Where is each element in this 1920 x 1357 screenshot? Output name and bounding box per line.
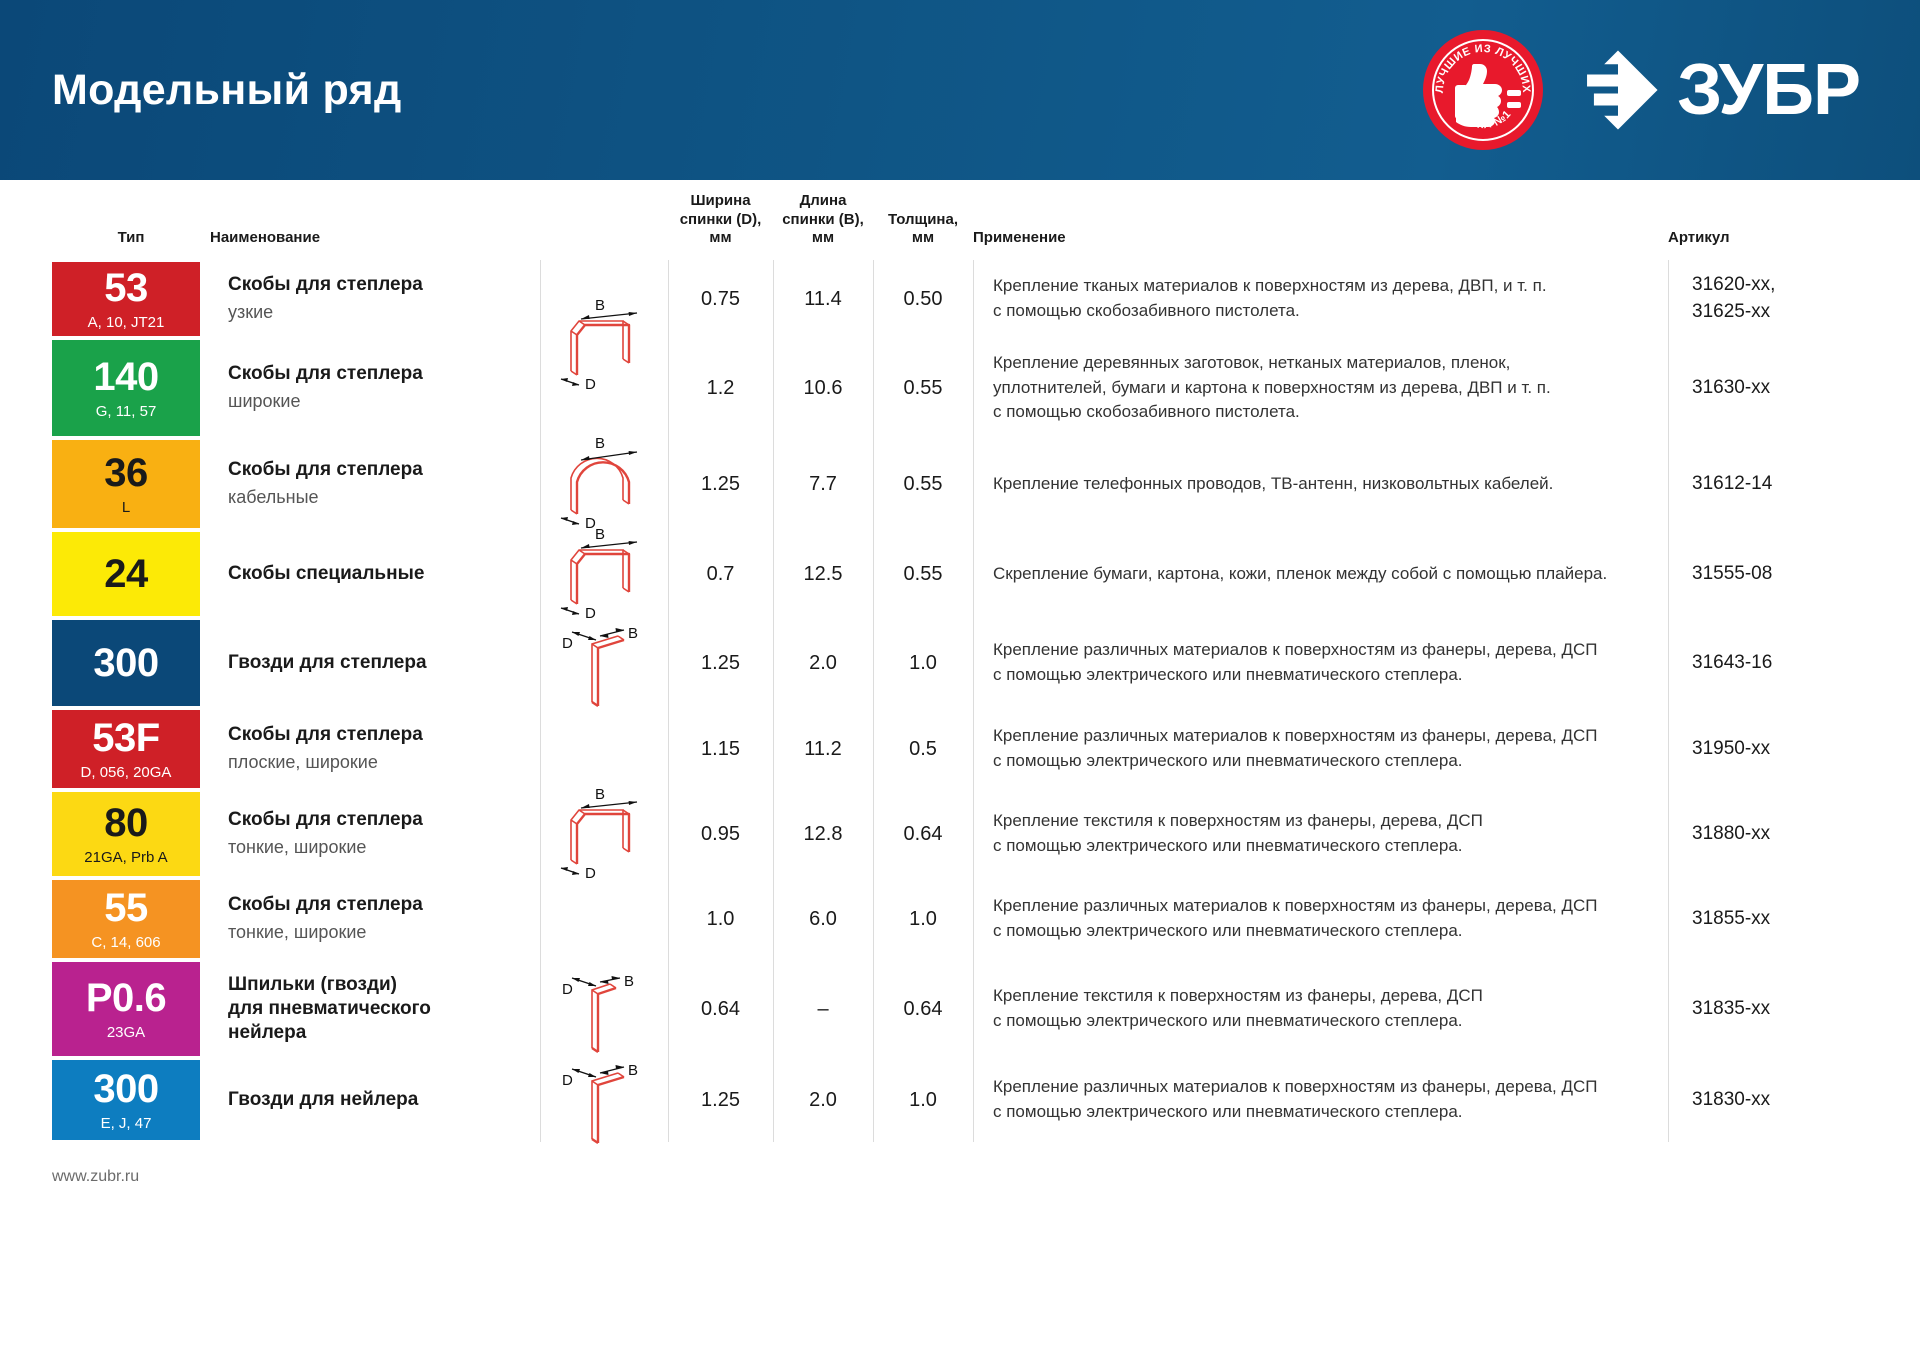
row-length-value: 10.6 xyxy=(773,338,873,438)
type-badge-number: 55 xyxy=(104,888,148,928)
type-badge-subtitle: A, 10, JT21 xyxy=(88,315,165,330)
type-badge-number: 300 xyxy=(93,643,158,683)
row-type-cell: 53FD, 056, 20GA xyxy=(52,708,210,790)
table-row[interactable]: 55C, 14, 606Скобы для степлератонкие, ши… xyxy=(52,878,1868,960)
row-application-cell: Крепление телефонных проводов, ТВ-антенн… xyxy=(973,438,1668,530)
col-header-type: Тип xyxy=(52,229,210,248)
row-length-value: 12.5 xyxy=(773,530,873,618)
row-thickness-value: 0.55 xyxy=(873,438,973,530)
type-badge-number: P0.6 xyxy=(86,978,166,1018)
row-application-line: с помощью электрического или пневматичес… xyxy=(993,1009,1648,1034)
row-width-value: 0.64 xyxy=(668,960,773,1058)
row-application-line: Крепление текстиля к поверхностям из фан… xyxy=(993,809,1648,834)
type-badge[interactable]: 24 xyxy=(52,532,200,616)
row-length-value: 2.0 xyxy=(773,618,873,708)
row-name-main: Скобы для степлера xyxy=(228,723,522,747)
row-application-cell: Крепление тканых материалов к поверхност… xyxy=(973,260,1668,338)
row-article-line: 31643-16 xyxy=(1692,650,1868,677)
row-article-cell: 31855-хх xyxy=(1668,878,1868,960)
row-diagram-cell: BD xyxy=(540,790,668,878)
row-name-cell: Шпильки (гвозди)для пневматическогонейле… xyxy=(210,960,540,1058)
row-thickness-value: 1.0 xyxy=(873,878,973,960)
type-badge[interactable]: P0.623GA xyxy=(52,962,200,1056)
row-article-line: 31855-хх xyxy=(1692,906,1868,933)
row-application-cell: Крепление различных материалов к поверхн… xyxy=(973,878,1668,960)
row-type-cell: 140G, 11, 57 xyxy=(52,338,210,438)
row-thickness-value: 0.64 xyxy=(873,960,973,1058)
row-type-cell: 300 xyxy=(52,618,210,708)
row-application-cell: Скрепление бумаги, картона, кожи, пленок… xyxy=(973,530,1668,618)
col-header-width-line2: спинки (D), мм xyxy=(668,211,773,249)
row-application-line: Крепление телефонных проводов, ТВ-антенн… xyxy=(993,472,1648,497)
row-name-cell: Скобы для степлераузкие xyxy=(210,260,540,338)
row-name-line: для пневматического xyxy=(228,997,522,1021)
row-name-cell: Скобы для степлераплоские, широкие xyxy=(210,708,540,790)
col-header-article: Артикул xyxy=(1668,229,1868,248)
type-badge[interactable]: 53A, 10, JT21 xyxy=(52,262,200,336)
col-header-thickness-line1: Толщина, xyxy=(873,211,973,230)
best-of-best-seal-icon: ЛУЧШИЕ ИЗ ЛУЧШИХ МАРКА №1 xyxy=(1423,30,1543,150)
row-name-main: Скобы для степлера xyxy=(228,808,522,832)
row-application-line: Крепление тканых материалов к поверхност… xyxy=(993,274,1648,299)
row-diagram-cell: DB xyxy=(540,960,668,1058)
row-diagram-cell: DB xyxy=(540,1058,668,1142)
type-badge-number: 53 xyxy=(104,268,148,308)
row-thickness-value: 0.50 xyxy=(873,260,973,338)
row-application-cell: Крепление деревянных заготовок, нетканых… xyxy=(973,338,1668,438)
row-width-value: 1.0 xyxy=(668,878,773,960)
row-application-cell: Крепление различных материалов к поверхн… xyxy=(973,708,1668,790)
model-range-table: Тип Наименование Ширина спинки (D), мм Д… xyxy=(0,180,1920,1142)
table-row[interactable]: 53FD, 056, 20GAСкобы для степлераплоские… xyxy=(52,708,1868,790)
row-name-sub: узкие xyxy=(228,301,522,324)
row-type-cell: 8021GA, Prb A xyxy=(52,790,210,878)
row-length-value: 2.0 xyxy=(773,1058,873,1142)
row-application-line: Крепление различных материалов к поверхн… xyxy=(993,1075,1648,1100)
type-badge-subtitle: E, J, 47 xyxy=(101,1116,152,1131)
row-type-cell: P0.623GA xyxy=(52,960,210,1058)
type-badge[interactable]: 140G, 11, 57 xyxy=(52,340,200,436)
row-width-value: 1.25 xyxy=(668,618,773,708)
svg-text:B: B xyxy=(628,1062,638,1079)
row-article-line: 31630-хх xyxy=(1692,375,1868,402)
svg-text:D: D xyxy=(562,1072,573,1089)
col-header-width: Ширина спинки (D), мм xyxy=(668,192,773,248)
row-name-cell: Гвозди для нейлера xyxy=(210,1058,540,1142)
row-name-main: Скобы для степлера xyxy=(228,458,522,482)
col-header-length: Длина спинки (B), мм xyxy=(773,192,873,248)
row-diagram-cell: DB xyxy=(540,618,668,708)
row-application-line: с помощью скобозабивного пистолета. xyxy=(993,299,1648,324)
row-width-value: 1.25 xyxy=(668,1058,773,1142)
row-name-cell: Скобы для степлератонкие, широкие xyxy=(210,878,540,960)
row-width-value: 1.2 xyxy=(668,338,773,438)
type-badge[interactable]: 53FD, 056, 20GA xyxy=(52,710,200,788)
row-application-line: Крепление различных материалов к поверхн… xyxy=(993,724,1648,749)
row-application-line: Крепление текстиля к поверхностям из фан… xyxy=(993,984,1648,1009)
row-width-value: 1.25 xyxy=(668,438,773,530)
row-width-value: 0.95 xyxy=(668,790,773,878)
row-article-line: 31625-хх xyxy=(1692,299,1868,326)
row-name-main: Гвозди для степлера xyxy=(228,651,522,675)
row-article-cell: 31612-14 xyxy=(1668,438,1868,530)
row-application-line: с помощью электрического или пневматичес… xyxy=(993,1100,1648,1125)
col-header-thickness: Толщина, мм xyxy=(873,211,973,249)
row-thickness-value: 1.0 xyxy=(873,1058,973,1142)
type-badge[interactable]: 36L xyxy=(52,440,200,528)
row-application-cell: Крепление различных материалов к поверхн… xyxy=(973,1058,1668,1142)
row-name-sub: плоские, широкие xyxy=(228,751,522,774)
table-row[interactable]: 140G, 11, 57Скобы для степлераширокие1.2… xyxy=(52,338,1868,438)
row-article-cell: 31620-хх,31625-хх xyxy=(1668,260,1868,338)
row-article-cell: 31630-хх xyxy=(1668,338,1868,438)
row-width-value: 0.7 xyxy=(668,530,773,618)
row-application-line: Крепление деревянных заготовок, нетканых… xyxy=(993,351,1648,376)
row-name-main: Скобы специальные xyxy=(228,562,522,586)
svg-text:D: D xyxy=(562,635,573,652)
row-application-line: с помощью электрического или пневматичес… xyxy=(993,663,1648,688)
row-width-value: 0.75 xyxy=(668,260,773,338)
table-row[interactable]: 53A, 10, JT21Скобы для степлераузкиеBD0.… xyxy=(52,260,1868,338)
staple-square-icon: BD xyxy=(551,786,657,882)
type-badge-number: 80 xyxy=(104,803,148,843)
row-name-sub: тонкие, широкие xyxy=(228,836,522,859)
row-type-cell: 55C, 14, 606 xyxy=(52,878,210,960)
svg-text:B: B xyxy=(628,625,638,642)
svg-text:B: B xyxy=(595,526,605,543)
row-application-line: Скрепление бумаги, картона, кожи, пленок… xyxy=(993,562,1648,587)
row-name-main: Скобы для степлера xyxy=(228,362,522,386)
row-name-main: Скобы для степлера xyxy=(228,273,522,297)
type-badge-subtitle: 21GA, Prb A xyxy=(84,850,167,865)
row-article-cell: 31555-08 xyxy=(1668,530,1868,618)
row-article-line: 31830-хх xyxy=(1692,1087,1868,1114)
row-length-value: – xyxy=(773,960,873,1058)
type-badge-subtitle: 23GA xyxy=(107,1025,145,1040)
page-header: Модельный ряд ЛУЧШИЕ ИЗ ЛУЧШИХ МАРКА №1 xyxy=(0,0,1920,180)
row-application-cell: Крепление текстиля к поверхностям из фан… xyxy=(973,790,1668,878)
footer: www.zubr.ru xyxy=(0,1142,1920,1186)
table-row[interactable]: 300Гвозди для степлераDB1.252.01.0Крепле… xyxy=(52,618,1868,708)
row-length-value: 7.7 xyxy=(773,438,873,530)
row-thickness-value: 0.64 xyxy=(873,790,973,878)
col-header-name: Наименование xyxy=(210,229,540,248)
table-row[interactable]: P0.623GAШпильки (гвозди)для пневматическ… xyxy=(52,960,1868,1058)
type-badge-subtitle: G, 11, 57 xyxy=(96,404,157,419)
type-badge[interactable]: 300 xyxy=(52,620,200,706)
row-name-sub: широкие xyxy=(228,390,522,413)
row-type-cell: 24 xyxy=(52,530,210,618)
staple-square-icon: BD xyxy=(551,526,657,622)
row-name-cell: Скобы для степлераширокие xyxy=(210,338,540,438)
type-badge-number: 36 xyxy=(104,453,148,493)
row-article-cell: 31950-хх xyxy=(1668,708,1868,790)
svg-text:B: B xyxy=(595,786,605,803)
row-diagram-cell: BD xyxy=(540,260,668,338)
row-application-line: с помощью электрического или пневматичес… xyxy=(993,749,1648,774)
row-article-line: 31835-хх xyxy=(1692,996,1868,1023)
table-row[interactable]: 36LСкобы для степлеракабельныеBD1.257.70… xyxy=(52,438,1868,530)
row-name-sub: кабельные xyxy=(228,486,522,509)
zubr-arrow-icon xyxy=(1575,47,1661,133)
row-name-sub: тонкие, широкие xyxy=(228,921,522,944)
row-article-cell: 31643-16 xyxy=(1668,618,1868,708)
row-article-cell: 31880-хх xyxy=(1668,790,1868,878)
svg-text:B: B xyxy=(624,973,634,990)
type-badge-subtitle: C, 14, 606 xyxy=(91,935,160,950)
type-badge[interactable]: 300E, J, 47 xyxy=(52,1060,200,1140)
svg-text:B: B xyxy=(595,297,605,314)
row-application-line: с помощью электрического или пневматичес… xyxy=(993,919,1648,944)
row-diagram-cell xyxy=(540,708,668,790)
row-diagram-cell: BD xyxy=(540,530,668,618)
row-application-line: уплотнителей, бумаги и картона к поверхн… xyxy=(993,376,1648,401)
row-width-value: 1.15 xyxy=(668,708,773,790)
table-row[interactable]: 8021GA, Prb AСкобы для степлератонкие, ш… xyxy=(52,790,1868,878)
row-article-line: 31950-хх xyxy=(1692,736,1868,763)
table-header-row: Тип Наименование Ширина спинки (D), мм Д… xyxy=(52,180,1868,260)
type-badge-subtitle: D, 056, 20GA xyxy=(81,765,172,780)
row-diagram-cell: BD xyxy=(540,438,668,530)
row-thickness-value: 0.5 xyxy=(873,708,973,790)
row-application-line: Крепление различных материалов к поверхн… xyxy=(993,894,1648,919)
type-badge-subtitle: L xyxy=(122,500,130,515)
row-application-cell: Крепление текстиля к поверхностям из фан… xyxy=(973,960,1668,1058)
type-badge[interactable]: 55C, 14, 606 xyxy=(52,880,200,958)
row-application-line: с помощью электрического или пневматичес… xyxy=(993,834,1648,859)
row-name-cell: Скобы для степлератонкие, широкие xyxy=(210,790,540,878)
table-row[interactable]: 300E, J, 47Гвозди для нейлераDB1.252.01.… xyxy=(52,1058,1868,1142)
nail-l-icon: DB xyxy=(554,1047,654,1153)
page-title: Модельный ряд xyxy=(52,66,402,115)
nail-l-icon: DB xyxy=(554,610,654,716)
col-header-thickness-line2: мм xyxy=(873,229,973,248)
type-badge-number: 300 xyxy=(93,1069,158,1109)
row-length-value: 11.2 xyxy=(773,708,873,790)
row-name-line: нейлера xyxy=(228,1021,522,1045)
row-application-line: Крепление различных материалов к поверхн… xyxy=(993,638,1648,663)
row-diagram-cell xyxy=(540,878,668,960)
staple-round-icon: BD xyxy=(551,434,657,534)
row-article-cell: 31830-хх xyxy=(1668,1058,1868,1142)
row-article-line: 31880-хх xyxy=(1692,821,1868,848)
row-name-main: Гвозди для нейлера xyxy=(228,1088,522,1112)
row-application-line: с помощью скобозабивного пистолета. xyxy=(993,400,1648,425)
row-thickness-value: 1.0 xyxy=(873,618,973,708)
type-badge[interactable]: 8021GA, Prb A xyxy=(52,792,200,876)
row-diagram-cell xyxy=(540,338,668,438)
col-header-application: Применение xyxy=(973,229,1668,248)
row-name-cell: Гвозди для степлера xyxy=(210,618,540,708)
row-name-main: Скобы для степлера xyxy=(228,893,522,917)
col-header-width-line1: Ширина xyxy=(668,192,773,211)
table-body: 53A, 10, JT21Скобы для степлераузкиеBD0.… xyxy=(52,260,1868,1142)
svg-text:B: B xyxy=(595,435,605,452)
table-row[interactable]: 24Скобы специальныеBD0.712.50.55Скреплен… xyxy=(52,530,1868,618)
zubr-wordmark: ЗУБР xyxy=(1677,54,1860,126)
row-article-cell: 31835-хх xyxy=(1668,960,1868,1058)
row-length-value: 12.8 xyxy=(773,790,873,878)
zubr-logo: ЗУБР xyxy=(1575,47,1860,133)
type-badge-number: 24 xyxy=(104,554,148,594)
svg-text:D: D xyxy=(562,981,573,998)
footer-url: www.zubr.ru xyxy=(52,1168,139,1185)
row-type-cell: 36L xyxy=(52,438,210,530)
row-name-cell: Скобы специальные xyxy=(210,530,540,618)
col-header-length-line2: спинки (B), мм xyxy=(773,211,873,249)
row-article-line: 31612-14 xyxy=(1692,471,1868,498)
row-thickness-value: 0.55 xyxy=(873,338,973,438)
row-article-line: 31620-хх, xyxy=(1692,272,1868,299)
row-name-cell: Скобы для степлеракабельные xyxy=(210,438,540,530)
col-header-length-line1: Длина xyxy=(773,192,873,211)
brand-block: ЛУЧШИЕ ИЗ ЛУЧШИХ МАРКА №1 ЗУБР xyxy=(1423,30,1860,150)
row-name-line: Шпильки (гвозди) xyxy=(228,973,522,997)
row-type-cell: 300E, J, 47 xyxy=(52,1058,210,1142)
row-article-line: 31555-08 xyxy=(1692,561,1868,588)
row-length-value: 6.0 xyxy=(773,878,873,960)
type-badge-number: 140 xyxy=(93,357,158,397)
row-type-cell: 53A, 10, JT21 xyxy=(52,260,210,338)
row-application-cell: Крепление различных материалов к поверхн… xyxy=(973,618,1668,708)
type-badge-number: 53F xyxy=(92,718,159,758)
row-length-value: 11.4 xyxy=(773,260,873,338)
row-thickness-value: 0.55 xyxy=(873,530,973,618)
